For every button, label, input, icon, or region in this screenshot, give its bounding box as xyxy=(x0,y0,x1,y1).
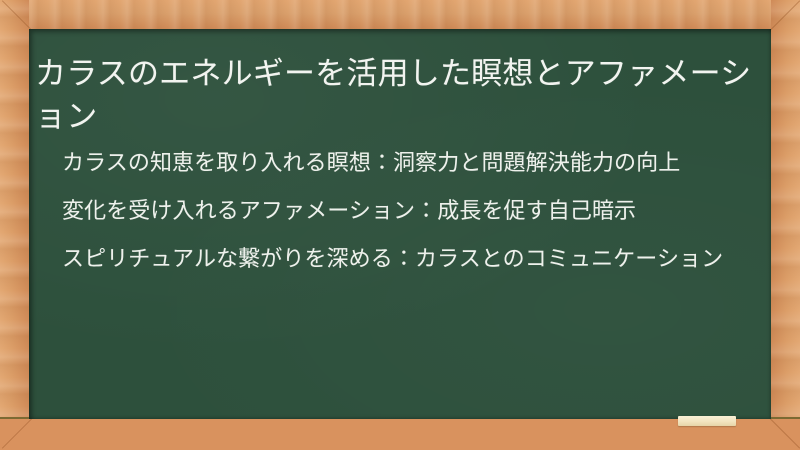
frame-rail-left xyxy=(0,0,29,450)
frame-rail-top xyxy=(0,0,800,29)
slide-bullet-list: カラスの知恵を取り入れる瞑想：洞察力と問題解決能力の向上 変化を受け入れるアファ… xyxy=(62,147,757,275)
bullet-item-2: 変化を受け入れるアファメーション：成長を促す自己暗示 xyxy=(62,195,757,227)
slide-canvas: カラスのエネルギーを活用した瞑想とアファメーション カラスの知恵を取り入れる瞑想… xyxy=(0,0,800,450)
chalkboard-surface: カラスのエネルギーを活用した瞑想とアファメーション カラスの知恵を取り入れる瞑想… xyxy=(29,29,771,419)
slide-title: カラスのエネルギーを活用した瞑想とアファメーション xyxy=(35,52,763,138)
frame-rail-right xyxy=(771,0,800,450)
chalkboard-content: カラスのエネルギーを活用した瞑想とアファメーション カラスの知恵を取り入れる瞑想… xyxy=(29,29,771,419)
bullet-item-3: スピリチュアルな繋がりを深める：カラスとのコミュニケーション xyxy=(62,243,757,275)
bullet-item-1: カラスの知恵を取り入れる瞑想：洞察力と問題解決能力の向上 xyxy=(62,147,757,179)
chalk-stick-icon xyxy=(678,416,736,426)
